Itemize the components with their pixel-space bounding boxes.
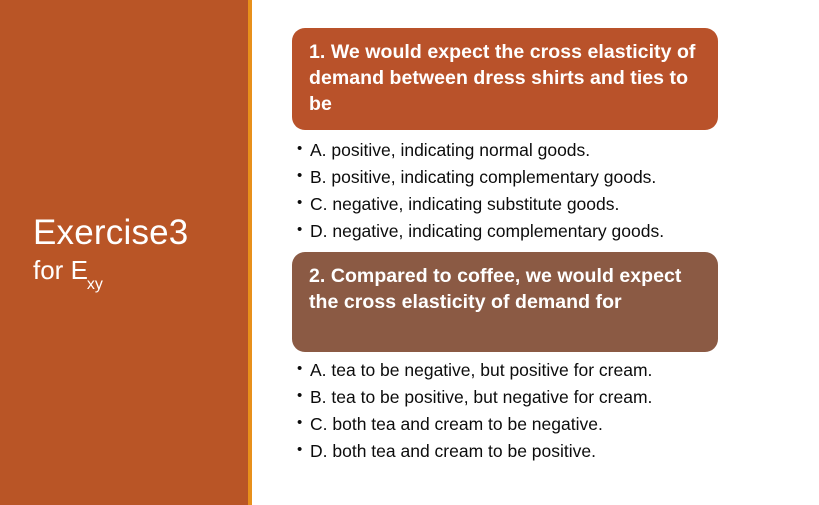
answer-option[interactable]: B. tea to be positive, but negative for …	[297, 384, 727, 411]
slide-title: Exercise3	[33, 214, 188, 252]
slide-subtitle-text: for E	[33, 255, 88, 285]
slide-subtitle: for Exy	[33, 256, 104, 291]
title-block: Exercise3 for Exy	[0, 0, 248, 505]
answer-list-1: A. positive, indicating normal goods. B.…	[297, 137, 727, 245]
answer-option[interactable]: C. both tea and cream to be negative.	[297, 411, 727, 438]
answer-list-2: A. tea to be negative, but positive for …	[297, 357, 727, 465]
question-box-1: 1. We would expect the cross elasticity …	[292, 28, 718, 130]
slide-canvas: Exercise3 for Exy 1. We would expect the…	[0, 0, 819, 505]
slide-subtitle-subscript: xy	[87, 276, 103, 293]
question-box-2: 2. Compared to coffee, we would expect t…	[292, 252, 718, 352]
answer-option[interactable]: D. negative, indicating complementary go…	[297, 218, 727, 245]
answer-option[interactable]: A. positive, indicating normal goods.	[297, 137, 727, 164]
answer-option[interactable]: A. tea to be negative, but positive for …	[297, 357, 727, 384]
answer-option[interactable]: C. negative, indicating substitute goods…	[297, 191, 727, 218]
answer-option[interactable]: D. both tea and cream to be positive.	[297, 438, 727, 465]
content-column: 1. We would expect the cross elasticity …	[252, 0, 819, 505]
answer-option[interactable]: B. positive, indicating complementary go…	[297, 164, 727, 191]
